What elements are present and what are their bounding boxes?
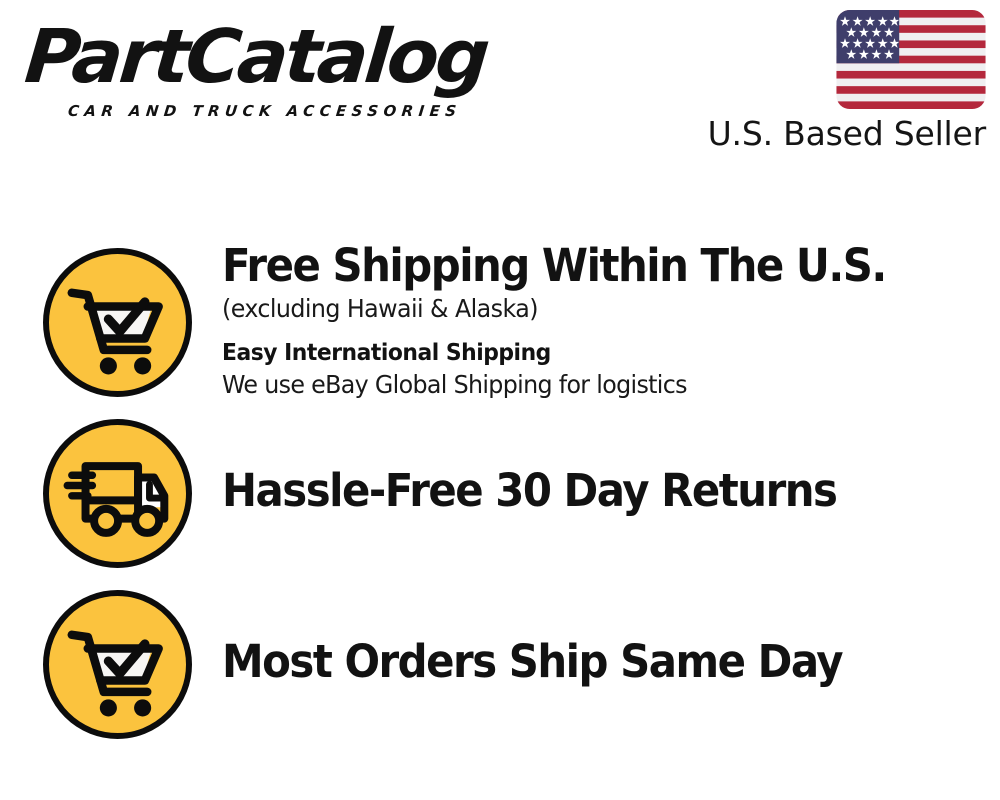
banner-header: PartCatalog CAR AND TRUCK ACCESSORIES — [0, 0, 1000, 175]
us-based-seller-label: U.S. Based Seller — [708, 115, 986, 153]
feature-copy: Most Orders Ship Same Day — [222, 636, 992, 688]
brand-tagline: CAR AND TRUCK ACCESSORIES — [67, 102, 462, 120]
feature-headline: Hassle-Free 30 Day Returns — [222, 465, 938, 517]
feature-copy: Hassle-Free 30 Day Returns — [222, 465, 992, 517]
feature-subnote: We use eBay Global Shipping for logistic… — [222, 368, 954, 401]
feature-subhead: Easy International Shipping — [222, 338, 954, 368]
feature-subline: (excluding Hawaii & Alaska) — [222, 292, 954, 326]
delivery-truck-icon — [43, 419, 192, 568]
feature-headline: Free Shipping Within The U.S. — [222, 240, 938, 292]
us-flag-icon — [708, 10, 986, 109]
shopping-cart-check-icon — [43, 248, 192, 397]
shopping-cart-check-icon — [43, 590, 192, 739]
feature-copy: Free Shipping Within The U.S. (excluding… — [222, 240, 992, 401]
brand-wordmark: PartCatalog — [22, 18, 508, 96]
us-based-seller-badge: U.S. Based Seller — [708, 10, 986, 153]
shipping-info-banner: PartCatalog CAR AND TRUCK ACCESSORIES — [0, 0, 1000, 800]
feature-headline: Most Orders Ship Same Day — [222, 636, 938, 688]
brand-logo: PartCatalog CAR AND TRUCK ACCESSORIES — [22, 18, 492, 118]
